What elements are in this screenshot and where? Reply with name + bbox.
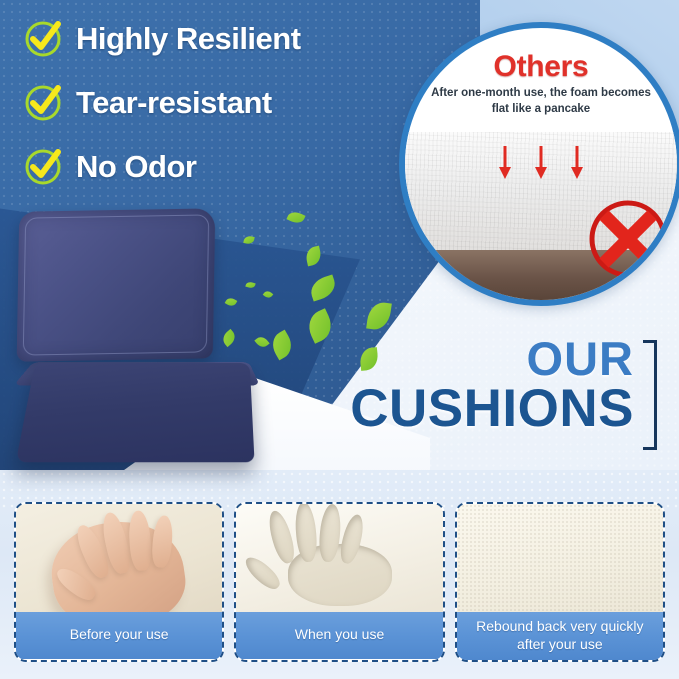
check-circle-icon (22, 146, 64, 188)
check-circle-icon (22, 82, 64, 124)
foam-demo-panel: Rebound back very quickly after your use (455, 502, 665, 662)
headline-line-2: CUSHIONS (350, 382, 634, 436)
panel-image-before-use (16, 504, 222, 612)
down-arrow-icon (498, 146, 512, 180)
foam-demo-panels: Before your use When you use Rebound bac… (14, 502, 665, 662)
panel-caption: When you use (236, 612, 442, 659)
hand-pressing-foam-image (45, 513, 190, 612)
feature-item: Tear-resistant (22, 82, 392, 124)
headline-bracket (643, 340, 657, 450)
panel-caption: Rebound back very quickly after your use (457, 612, 663, 660)
foam-demo-panel: When you use (234, 502, 444, 662)
inset-caption: After one-month use, the foam becomes fl… (425, 86, 657, 117)
feature-label: No Odor (76, 149, 197, 185)
others-comparison-inset: Others After one-month use, the foam bec… (399, 22, 679, 306)
check-circle-icon (22, 18, 64, 60)
feature-item: Highly Resilient (22, 18, 392, 60)
product-cushion-image (8, 206, 256, 501)
panel-image-when-you-use (236, 504, 442, 612)
headline-line-1: OUR (350, 336, 634, 382)
cushion-seat-base (16, 363, 255, 462)
feature-item: No Odor (22, 146, 392, 188)
feature-label: Highly Resilient (76, 21, 301, 57)
headline-our-cushions: OUR CUSHIONS (350, 336, 657, 450)
cushion-back-pillow (17, 208, 216, 361)
panel-image-rebound (457, 504, 663, 612)
feature-label: Tear-resistant (76, 85, 272, 121)
inset-title: Others (405, 50, 677, 84)
down-arrow-group (405, 146, 677, 180)
down-arrow-icon (534, 146, 548, 180)
down-arrow-icon (570, 146, 584, 180)
panel-caption: Before your use (16, 612, 222, 659)
red-x-mark-icon (585, 196, 671, 282)
feature-list: Highly Resilient Tear-resistant No Odor (22, 18, 392, 210)
foam-demo-panel: Before your use (14, 502, 224, 662)
infographic-canvas: Highly Resilient Tear-resistant No Odor (0, 0, 679, 679)
